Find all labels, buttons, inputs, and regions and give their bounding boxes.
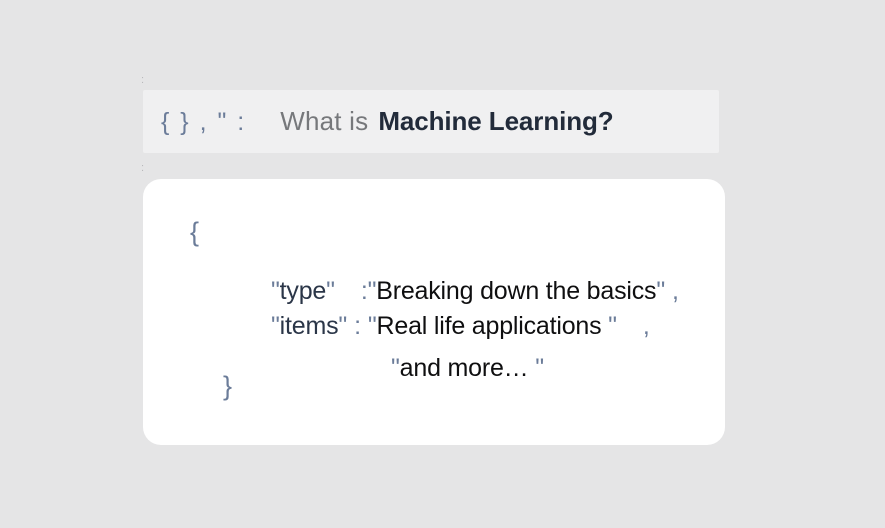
brace-close-icon: }: [223, 373, 232, 400]
header-light-text: What is: [280, 106, 368, 137]
header-strong-text: Machine Learning?: [378, 106, 613, 137]
header-text-row: { } , " : What is Machine Learning?: [161, 106, 614, 137]
json-decoration: { } , " :: [161, 108, 246, 137]
brace-open-icon: {: [190, 219, 199, 246]
value-quote-close-icon: ": [608, 312, 617, 340]
json-line-and-more: "and more… ": [337, 331, 544, 406]
body-tick-mark: :: [141, 163, 144, 174]
key-quote-open-icon: ": [271, 312, 280, 340]
value-quote-close-icon: ": [535, 354, 544, 382]
json-content-card: { "type":"Breaking down the basics", "it…: [143, 179, 725, 445]
slide-canvas: : { } , " : What is Machine Learning? : …: [0, 0, 885, 528]
comma-icon: ,: [643, 312, 650, 340]
question-header-card: { } , " : What is Machine Learning?: [143, 90, 719, 153]
comma-icon: ,: [672, 277, 679, 305]
header-tick-mark: :: [141, 75, 144, 86]
value-quote-close-icon: ": [656, 277, 665, 305]
json-value-and-more: and more…: [400, 354, 536, 382]
json-code-block: { "type":"Breaking down the basics", "it…: [143, 179, 725, 445]
json-key-items: items: [280, 312, 339, 340]
value-quote-open-icon: ": [391, 354, 400, 382]
